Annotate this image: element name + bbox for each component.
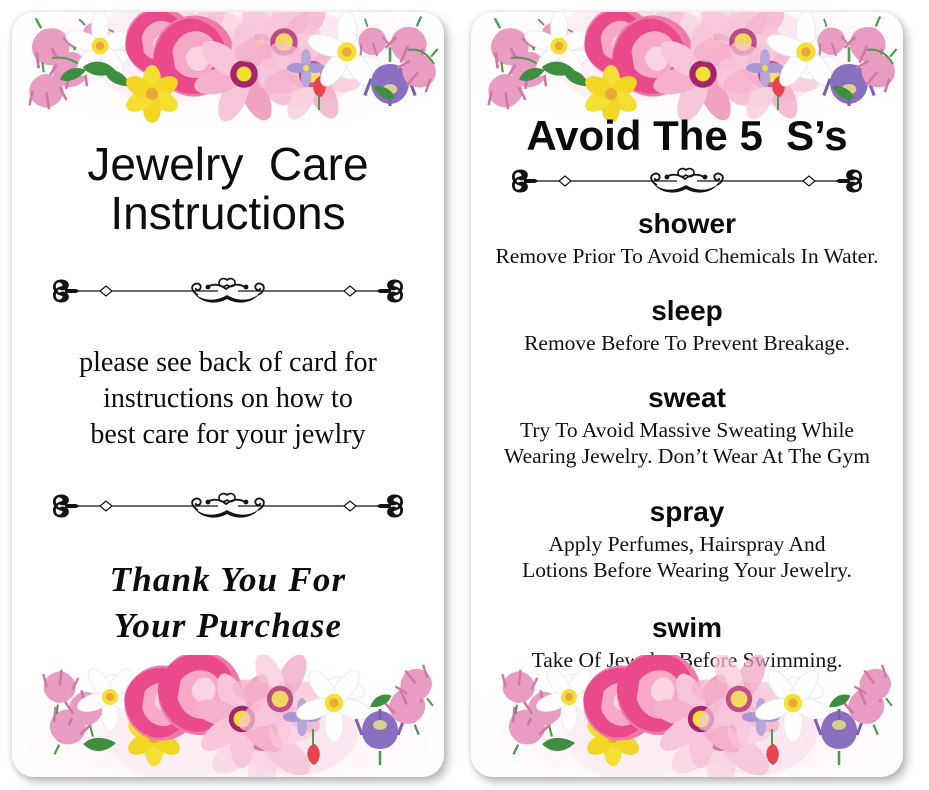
tip-description: Remove Prior To Avoid Chemicals In Water… [471, 243, 903, 269]
tip-title: swim [471, 612, 903, 644]
tip-shower: shower Remove Prior To Avoid Chemicals I… [471, 208, 903, 269]
card-back-heading: Avoid The 5 S’s [471, 112, 903, 160]
tip-title: spray [471, 496, 903, 528]
tip-sweat: sweat Try To Avoid Massive Sweating Whil… [471, 382, 903, 470]
tip-description: Take Of Jewelry Before Swimming. [471, 647, 903, 673]
tip-title: sleep [471, 295, 903, 327]
floral-border-icon [12, 12, 444, 134]
jewelry-care-front-card: Jewelry Care Instructions [12, 12, 444, 777]
tip-swim: swim Take Of Jewelry Before Swimming. [471, 612, 903, 673]
ornamental-divider-top [12, 274, 444, 308]
tip-description: Remove Before To Prevent Breakage. [471, 330, 903, 356]
tip-title: shower [471, 208, 903, 240]
tip-sleep: sleep Remove Before To Prevent Breakage. [471, 295, 903, 356]
card-front-title: Jewelry Care Instructions [12, 140, 444, 238]
screenshot-stage: Jewelry Care Instructions [0, 0, 929, 790]
tip-description: Try To Avoid Massive Sweating While Wear… [471, 417, 903, 469]
ornamental-divider [471, 164, 903, 198]
ornamental-divider-bottom [12, 489, 444, 523]
jewelry-care-back-card: Avoid The 5 S’s [471, 12, 903, 777]
card-front-body: please see back of card for instructions… [12, 345, 444, 452]
floral-border-icon [12, 655, 444, 777]
card-front-closing: Thank You For Your Purchase [12, 557, 444, 648]
tip-description: Apply Perfumes, Hairspray And Lotions Be… [471, 531, 903, 583]
tip-title: sweat [471, 382, 903, 414]
tip-spray: spray Apply Perfumes, Hairspray And Loti… [471, 496, 903, 584]
